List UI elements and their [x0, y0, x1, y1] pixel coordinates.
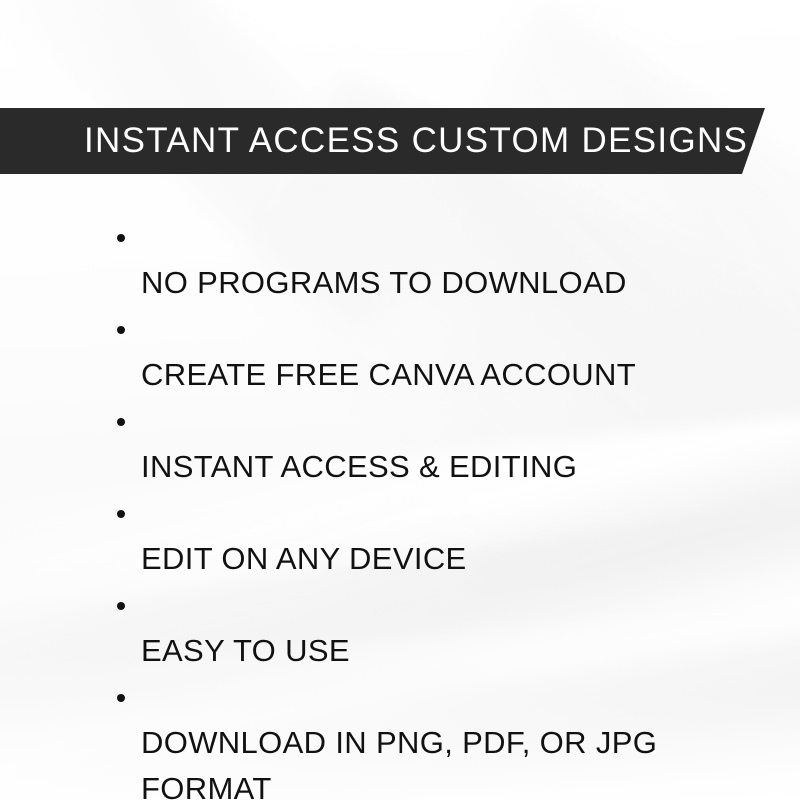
list-item: EASY TO USE: [113, 582, 753, 674]
header-banner: INSTANT ACCESS CUSTOM DESIGNS: [0, 108, 768, 174]
list-item: EDIT ON ANY DEVICE: [113, 490, 753, 582]
list-item-label: EDIT ON ANY DEVICE: [141, 541, 467, 576]
feature-list: NO PROGRAMS TO DOWNLOAD CREATE FREE CANV…: [113, 214, 753, 800]
promo-poster: INSTANT ACCESS CUSTOM DESIGNS NO PROGRAM…: [0, 0, 800, 800]
list-item-label: DOWNLOAD IN PNG, PDF, OR JPG FORMAT: [141, 725, 657, 800]
list-item: CREATE FREE CANVA ACCOUNT: [113, 306, 753, 398]
list-item-label: EASY TO USE: [141, 633, 350, 668]
list-item: DOWNLOAD IN PNG, PDF, OR JPG FORMAT: [113, 674, 753, 800]
list-item: INSTANT ACCESS & EDITING: [113, 398, 753, 490]
list-item-label: CREATE FREE CANVA ACCOUNT: [141, 357, 636, 392]
page-title: INSTANT ACCESS CUSTOM DESIGNS: [84, 123, 748, 159]
list-item-label: NO PROGRAMS TO DOWNLOAD: [141, 265, 627, 300]
list-item-label: INSTANT ACCESS & EDITING: [141, 449, 577, 484]
list-item: NO PROGRAMS TO DOWNLOAD: [113, 214, 753, 306]
